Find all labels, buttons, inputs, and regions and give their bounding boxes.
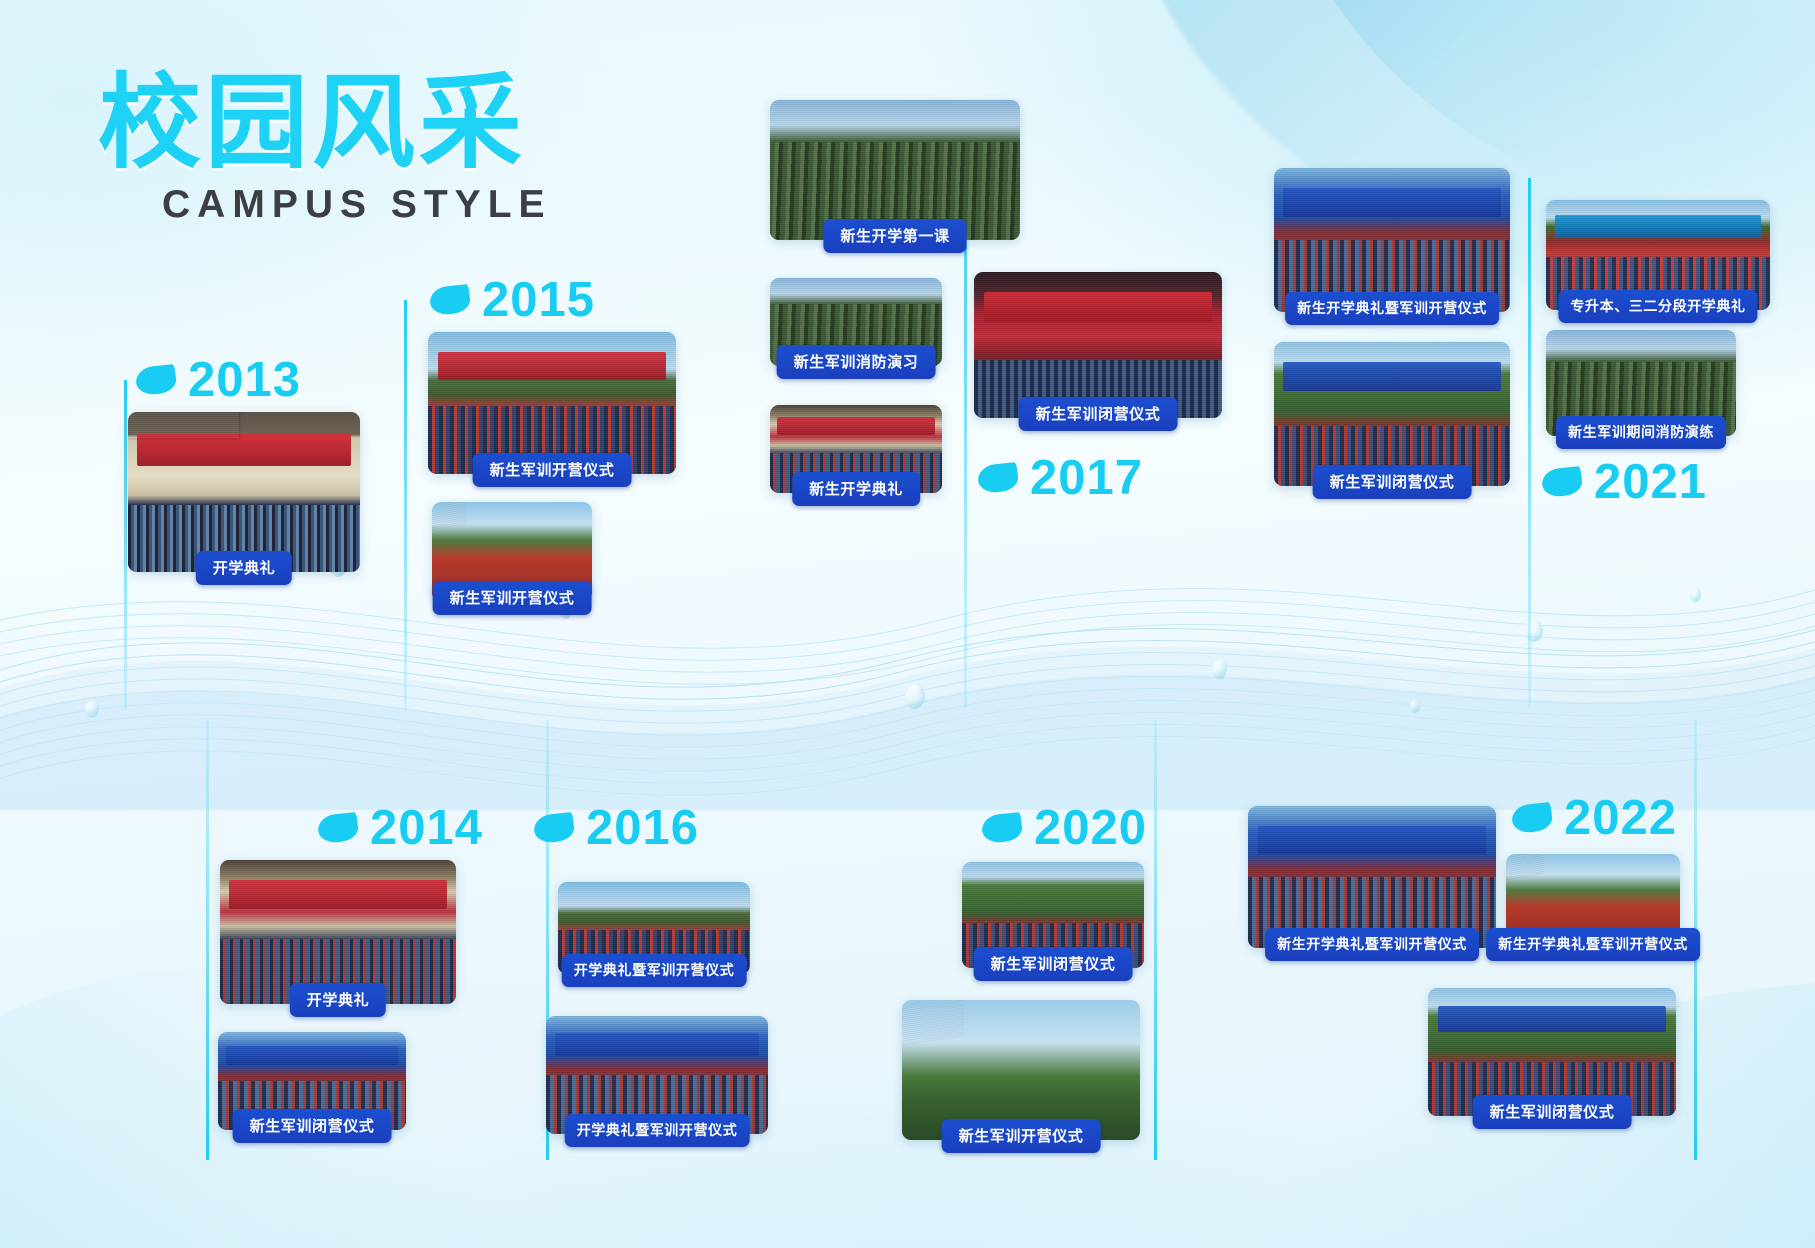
photo-caption: 新生军训开营仪式 — [473, 453, 632, 487]
year-label: 2020 — [1034, 800, 1147, 856]
leaf-icon — [429, 284, 472, 316]
photo-card[interactable]: 新生开学典礼暨军训开营仪式 — [1248, 806, 1496, 948]
photo-card[interactable]: 新生军训开营仪式 — [902, 1000, 1140, 1140]
photo-card[interactable]: 新生军训开营仪式 — [432, 502, 592, 602]
photo-card[interactable]: 新生开学典礼暨军训开营仪式 — [1506, 854, 1680, 948]
photo-caption: 开学典礼 — [196, 551, 292, 585]
timeline-rule-2015 — [404, 300, 407, 710]
leaf-icon — [533, 812, 576, 844]
photo-caption: 新生军训消防演习 — [777, 345, 936, 379]
year-marker-2021: 2021 — [1542, 454, 1707, 510]
leaf-icon — [317, 812, 360, 844]
photo-card[interactable]: 新生开学典礼 — [770, 405, 942, 493]
photo-caption: 专升本、三二分段开学典礼 — [1558, 290, 1757, 323]
photo-caption: 新生军训闭营仪式 — [1313, 465, 1472, 499]
year-label: 2022 — [1564, 790, 1677, 846]
photo-banner — [777, 417, 935, 435]
year-marker-2015: 2015 — [430, 272, 595, 328]
photo-banner — [137, 434, 350, 466]
photo-image — [1274, 168, 1510, 312]
photo-caption: 开学典礼暨军训开营仪式 — [565, 1114, 750, 1147]
photo-caption: 新生军训闭营仪式 — [233, 1109, 392, 1143]
year-label: 2014 — [370, 800, 483, 856]
page-subtitle: CAMPUS STYLE — [162, 183, 552, 227]
photo-banner — [1438, 1006, 1666, 1032]
timeline-rule-2020 — [1154, 720, 1157, 1160]
photo-caption: 新生军训闭营仪式 — [1473, 1095, 1632, 1129]
photo-caption: 新生军训闭营仪式 — [1019, 397, 1178, 431]
photo-banner — [555, 1033, 759, 1057]
timeline-rule-2021 — [1528, 178, 1531, 708]
photo-card[interactable]: 新生开学典礼暨军训开营仪式 — [1274, 168, 1510, 312]
page-title: 校园风采 — [98, 72, 552, 175]
campus-style-board: 校园风采 CAMPUS STYLE 崇实 求精 致良知 2013 2015 20… — [0, 0, 1815, 1248]
photo-card[interactable]: 新生军训闭营仪式 — [1428, 988, 1676, 1116]
photo-card[interactable]: 新生军训闭营仪式 — [974, 272, 1222, 418]
photo-caption: 新生军训开营仪式 — [942, 1119, 1101, 1153]
photo-banner — [1258, 826, 1486, 854]
photo-banner — [226, 1046, 399, 1066]
photo-caption: 新生开学典礼暨军训开营仪式 — [1486, 928, 1700, 961]
photo-image — [1248, 806, 1496, 948]
year-label: 2016 — [586, 800, 699, 856]
photo-card[interactable]: 新生军训闭营仪式 — [218, 1032, 406, 1130]
photo-banner — [1555, 215, 1761, 237]
photo-card[interactable]: 新生军训开营仪式 — [428, 332, 676, 474]
year-label: 2015 — [482, 272, 595, 328]
photo-caption: 新生开学典礼暨军训开营仪式 — [1265, 928, 1479, 961]
year-label: 2013 — [188, 352, 301, 408]
year-label: 2017 — [1030, 450, 1143, 506]
photo-banner — [1283, 188, 1500, 217]
photo-card[interactable]: 新生军训闭营仪式 — [1274, 342, 1510, 486]
year-marker-2014: 2014 — [318, 800, 483, 856]
photo-card[interactable]: 开学典礼 — [128, 412, 360, 572]
photo-banner — [984, 292, 1212, 321]
year-marker-2017: 2017 — [978, 450, 1143, 506]
timeline-rule-2013 — [124, 380, 127, 710]
leaf-icon — [135, 364, 178, 396]
year-marker-2020: 2020 — [982, 800, 1147, 856]
photo-caption: 开学典礼 — [290, 983, 386, 1017]
photo-banner — [438, 352, 666, 380]
school-motto: 崇实 求精 致良知 — [764, 590, 1477, 720]
photo-banner — [229, 880, 446, 909]
photo-banner — [1283, 362, 1500, 391]
motto-part-3: 致良知 — [1235, 568, 1473, 700]
timeline-rule-2014 — [206, 720, 209, 1160]
photo-caption: 新生军训期间消防演练 — [1556, 416, 1726, 449]
photo-caption: 新生开学第一课 — [823, 219, 966, 253]
photo-card[interactable]: 新生军训闭营仪式 — [962, 862, 1144, 968]
photo-caption: 新生开学典礼 — [792, 472, 920, 506]
photo-caption: 开学典礼暨军训开营仪式 — [562, 954, 747, 987]
photo-card[interactable]: 开学典礼暨军训开营仪式 — [558, 882, 750, 974]
photo-card[interactable]: 专升本、三二分段开学典礼 — [1546, 200, 1770, 310]
leaf-icon — [1541, 466, 1584, 498]
photo-caption: 新生军训开营仪式 — [433, 581, 592, 615]
photo-card[interactable]: 开学典礼 — [220, 860, 456, 1004]
motto-part-1: 崇实 — [766, 602, 928, 724]
year-label: 2021 — [1594, 454, 1707, 510]
leaf-icon — [977, 462, 1020, 494]
year-marker-2013: 2013 — [136, 352, 301, 408]
photo-caption: 新生开学典礼暨军训开营仪式 — [1285, 292, 1499, 325]
photo-card[interactable]: 开学典礼暨军训开营仪式 — [546, 1016, 768, 1134]
photo-caption: 新生军训闭营仪式 — [974, 947, 1133, 981]
photo-image — [128, 412, 360, 572]
photo-card[interactable]: 新生军训消防演习 — [770, 278, 942, 366]
motto-part-2: 求精 — [997, 595, 1167, 706]
photo-card[interactable]: 新生开学第一课 — [770, 100, 1020, 240]
page-header: 校园风采 CAMPUS STYLE — [98, 72, 552, 227]
photo-card[interactable]: 新生军训期间消防演练 — [1546, 330, 1736, 436]
leaf-icon — [1511, 802, 1554, 834]
year-marker-2016: 2016 — [534, 800, 699, 856]
year-marker-2022: 2022 — [1512, 790, 1677, 846]
leaf-icon — [981, 812, 1024, 844]
